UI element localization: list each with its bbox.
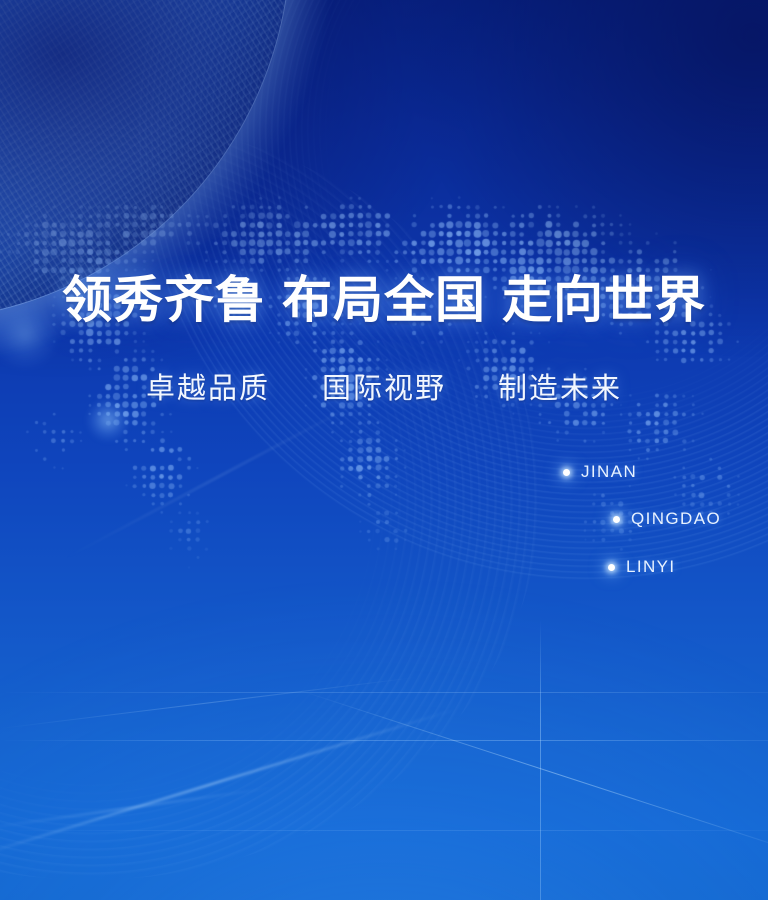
subline-part-3: 制造未来	[498, 371, 622, 405]
headline-part-3: 走向世界	[502, 270, 706, 329]
city-marker-jinan[interactable]: JINAN	[563, 462, 637, 482]
banner-stage: 领秀齐鲁布局全国走向世界 卓越品质国际视野制造未来 JINAN QINGDAO …	[0, 0, 768, 900]
map-pin-dot-icon	[613, 516, 620, 523]
subline-part-1: 卓越品质	[146, 371, 270, 405]
headline-part-1: 领秀齐鲁	[62, 270, 266, 329]
text-layer: 领秀齐鲁布局全国走向世界 卓越品质国际视野制造未来 JINAN QINGDAO …	[0, 0, 768, 900]
city-marker-linyi[interactable]: LINYI	[608, 557, 676, 577]
map-pin-dot-icon	[608, 564, 615, 571]
city-label-linyi: LINYI	[626, 557, 676, 577]
page-subtitle: 卓越品质国际视野制造未来	[0, 370, 768, 406]
city-label-qingdao: QINGDAO	[631, 509, 721, 529]
city-label-jinan: JINAN	[581, 462, 637, 482]
map-pin-dot-icon	[563, 469, 570, 476]
headline-part-2: 布局全国	[282, 270, 486, 329]
subline-part-2: 国际视野	[322, 371, 446, 405]
city-marker-qingdao[interactable]: QINGDAO	[613, 509, 721, 529]
page-title: 领秀齐鲁布局全国走向世界	[0, 270, 768, 330]
